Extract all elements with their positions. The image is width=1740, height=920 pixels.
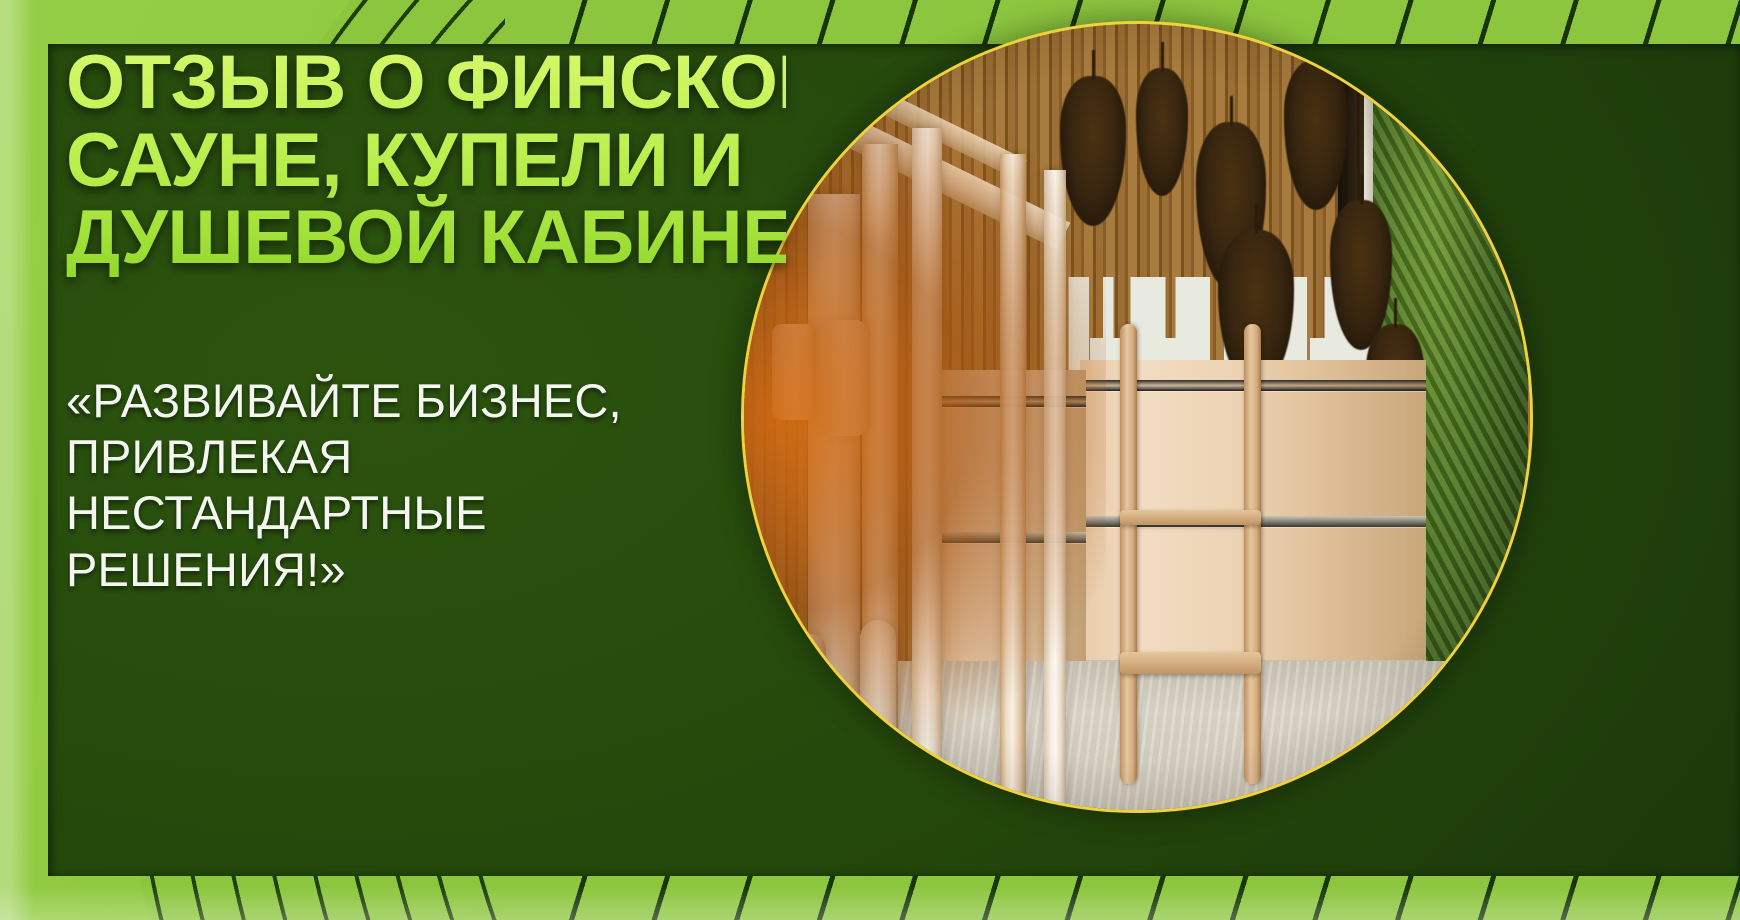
- ladder-step: [1120, 652, 1261, 674]
- tagline-quote: «РАЗВИВАЙТЕ БИЗНЕС, ПРИВЛЕКАЯ НЕСТАНДАРТ…: [66, 373, 786, 599]
- bottom-diagonal-slash-strip: [505, 876, 1740, 920]
- ladder-step: [1120, 510, 1261, 525]
- warm-light-glow: [744, 24, 1106, 810]
- headline-line-3: ДУШЕВОЙ КАБИНЕ: [66, 199, 786, 277]
- page-title: ОТЗЫВ О ФИНСКОЙ САУНЕ, КУПЕЛИ И ДУШЕВОЙ …: [66, 44, 786, 277]
- sauna-photo-circle: [744, 24, 1530, 810]
- headline-line-1: ОТЗЫВ О ФИНСКОЙ: [66, 44, 786, 122]
- headline-line-2: САУНЕ, КУПЕЛИ И: [66, 122, 786, 200]
- ladder-rail-right: [1244, 324, 1261, 784]
- quote-line-3: НЕСТАНДАРТНЫЕ: [66, 485, 786, 541]
- quote-line-4: РЕШЕНИЯ!»: [66, 542, 786, 598]
- text-column: ОТЗЫВ О ФИНСКОЙ САУНЕ, КУПЕЛИ И ДУШЕВОЙ …: [66, 44, 786, 598]
- quote-line-2: ПРИВЛЕКАЯ: [66, 429, 786, 485]
- sauna-scene: [744, 24, 1530, 810]
- ladder-rail-left: [1120, 324, 1137, 784]
- promo-banner: ОТЗЫВ О ФИНСКОЙ САУНЕ, КУПЕЛИ И ДУШЕВОЙ …: [0, 0, 1740, 920]
- quote-line-1: «РАЗВИВАЙТЕ БИЗНЕС,: [66, 373, 786, 429]
